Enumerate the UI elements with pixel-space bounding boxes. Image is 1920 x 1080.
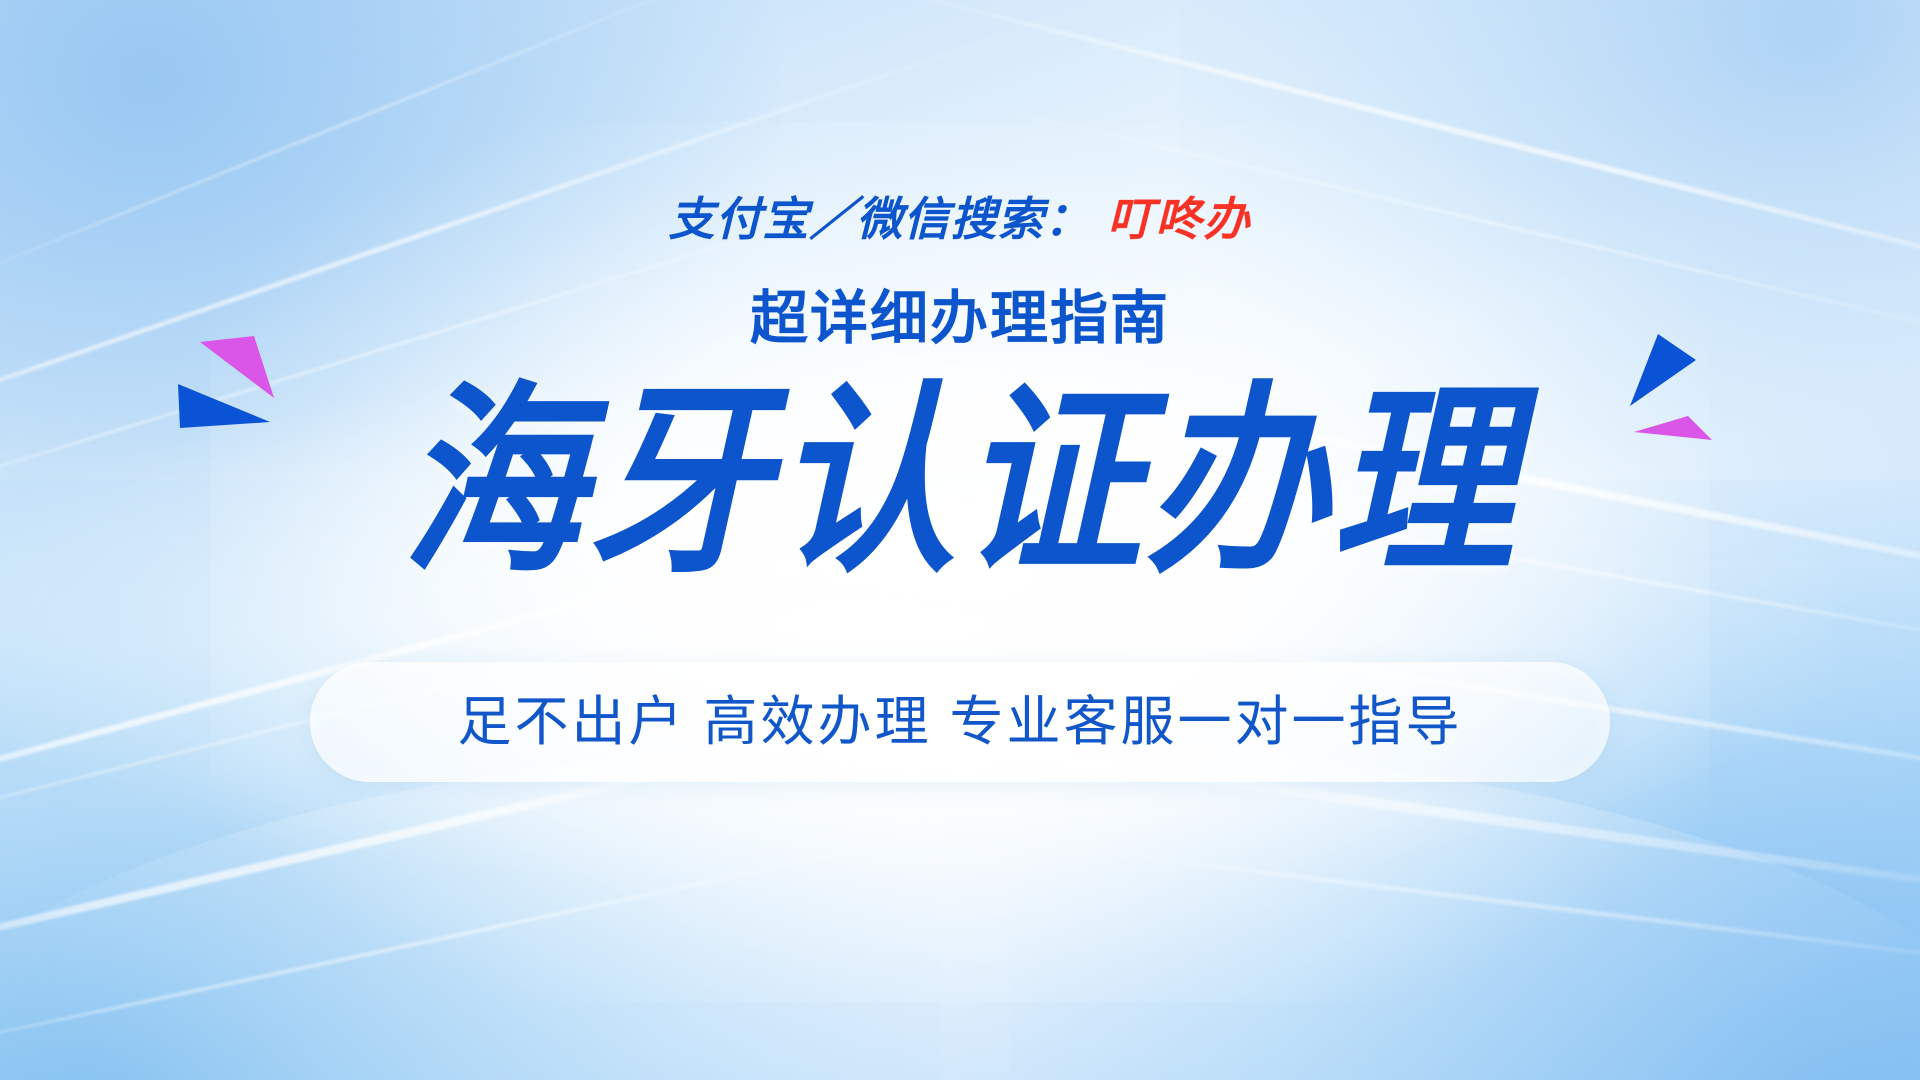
subtitle-text: 足不出户 高效办理 专业客服一对一指导 <box>457 695 1462 749</box>
banner-content: 支付宝／微信搜索：叮咚办 超详细办理指南 海牙认证办理 足不出户 高效办理 专业… <box>0 0 1920 1080</box>
brand-name: 叮咚办 <box>1108 193 1252 245</box>
headline-text: 海牙认证办理 <box>0 380 1920 584</box>
kicker-text: 超详细办理指南 <box>0 290 1920 348</box>
search-hint-line: 支付宝／微信搜索：叮咚办 <box>0 196 1920 242</box>
search-hint-prefix: 支付宝／微信搜索： <box>669 193 1092 245</box>
subtitle-pill: 足不出户 高效办理 专业客服一对一指导 <box>310 662 1610 782</box>
promo-banner: 支付宝／微信搜索：叮咚办 超详细办理指南 海牙认证办理 足不出户 高效办理 专业… <box>0 0 1920 1080</box>
